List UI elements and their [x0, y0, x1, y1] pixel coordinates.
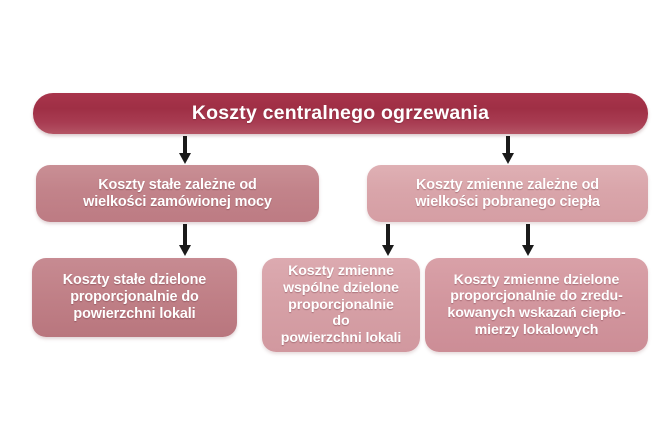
- arrow-variable-costs-to-variable-common: [381, 224, 395, 257]
- node-variable-by-heat-meters-line1: Koszty zmienne dzielone: [439, 272, 633, 289]
- node-variable-common-by-area-line3: proporcjonalnie do: [270, 297, 412, 331]
- node-fixed-costs-by-area[interactable]: Koszty stałe dzieloneproporcjonalnie dop…: [32, 258, 237, 337]
- node-fixed-costs-by-area-line3: powierzchni lokali: [55, 306, 214, 323]
- arrow-fixed-costs-to-fixed-by-area: [178, 224, 192, 257]
- node-fixed-costs-by-area-line1: Koszty stałe dzielone: [55, 272, 214, 289]
- node-variable-costs-line1: Koszty zmienne zależne od: [407, 177, 608, 194]
- node-variable-costs-line2: wielkości pobranego ciepła: [407, 194, 608, 211]
- node-variable-costs[interactable]: Koszty zmienne zależne odwielkości pobra…: [367, 165, 648, 222]
- arrow-variable-costs-to-variable-by-meters: [521, 224, 535, 257]
- node-variable-common-by-area-line4: powierzchni lokali: [270, 330, 412, 347]
- node-variable-costs-label: Koszty zmienne zależne odwielkości pobra…: [399, 177, 616, 211]
- arrow-root-to-variable-costs: [501, 136, 515, 165]
- node-fixed-costs-by-area-line2: proporcjonalnie do: [55, 289, 214, 306]
- node-fixed-costs-line2: wielkości zamówionej mocy: [75, 194, 280, 211]
- node-fixed-costs[interactable]: Koszty stałe zależne odwielkości zamówio…: [36, 165, 319, 222]
- flowchart-diagram: Koszty centralnego ogrzewania Koszty sta…: [0, 0, 670, 447]
- node-variable-by-heat-meters-line2: proporcjonalnie do zredu-: [439, 288, 633, 305]
- node-fixed-costs-by-area-label: Koszty stałe dzieloneproporcjonalnie dop…: [47, 272, 222, 323]
- node-root-total-heating-costs[interactable]: Koszty centralnego ogrzewania: [33, 93, 648, 134]
- arrow-root-to-fixed-costs: [178, 136, 192, 165]
- node-variable-common-by-area[interactable]: Koszty zmiennewspólne dzieloneproporcjon…: [262, 258, 420, 352]
- node-fixed-costs-line1: Koszty stałe zależne od: [75, 177, 280, 194]
- node-variable-common-by-area-line1: Koszty zmienne: [270, 263, 412, 280]
- node-variable-common-by-area-label: Koszty zmiennewspólne dzieloneproporcjon…: [262, 263, 420, 347]
- node-variable-by-heat-meters[interactable]: Koszty zmienne dzieloneproporcjonalnie d…: [425, 258, 648, 352]
- node-variable-by-heat-meters-label: Koszty zmienne dzieloneproporcjonalnie d…: [431, 272, 641, 339]
- node-variable-by-heat-meters-line4: mierzy lokalowych: [439, 322, 633, 339]
- node-variable-common-by-area-line2: wspólne dzielone: [270, 280, 412, 297]
- node-fixed-costs-label: Koszty stałe zależne odwielkości zamówio…: [67, 177, 288, 211]
- node-root-label: Koszty centralnego ogrzewania: [184, 102, 497, 125]
- node-variable-by-heat-meters-line3: kowanych wskazań ciepło-: [439, 305, 633, 322]
